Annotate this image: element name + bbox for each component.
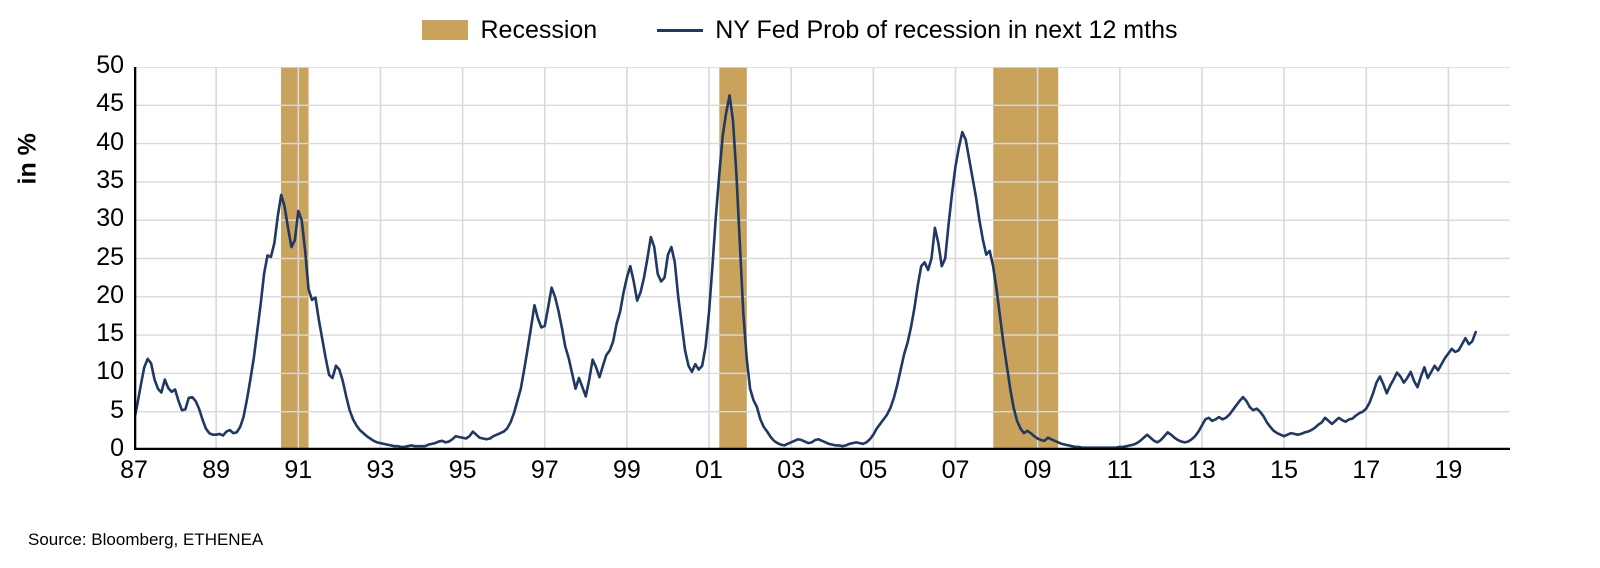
y-axis-tick-label: 35 — [74, 168, 124, 193]
series-line-group — [134, 95, 1476, 447]
x-axis-tick-label: 99 — [597, 458, 657, 483]
series-line-ny-fed-probability — [134, 95, 1476, 447]
x-axis-tick-label: 89 — [186, 458, 246, 483]
source-note: Source: Bloomberg, ETHENEA — [28, 530, 263, 550]
y-axis-tick-label: 30 — [74, 206, 124, 231]
chart-legend: Recession NY Fed Prob of recession in ne… — [0, 8, 1600, 52]
x-axis-tick-label: 19 — [1418, 458, 1478, 483]
legend-item-recession: Recession — [422, 18, 597, 43]
x-axis-tick-labels: 8789919395979901030507091113151719 — [0, 458, 1600, 498]
x-axis-tick-label: 91 — [268, 458, 328, 483]
x-axis-tick-label: 03 — [761, 458, 821, 483]
x-axis-tick-label: 97 — [515, 458, 575, 483]
legend-label-ny-fed-probability: NY Fed Prob of recession in next 12 mths — [715, 18, 1177, 43]
y-axis-title: in % — [14, 145, 43, 185]
grid-lines — [134, 67, 1510, 450]
recession-probability-line-chart — [134, 67, 1510, 450]
y-axis-tick-label: 10 — [74, 359, 124, 384]
recession-color-swatch-icon — [422, 20, 468, 40]
x-axis-tick-label: 13 — [1172, 458, 1232, 483]
y-axis-tick-label: 15 — [74, 321, 124, 346]
x-axis-tick-label: 01 — [679, 458, 739, 483]
x-axis-tick-label: 17 — [1336, 458, 1396, 483]
y-axis-tick-label: 25 — [74, 245, 124, 270]
y-axis-tick-label: 45 — [74, 91, 124, 116]
y-axis-tick-label: 40 — [74, 130, 124, 155]
legend-item-ny-fed-probability: NY Fed Prob of recession in next 12 mths — [657, 18, 1177, 43]
y-axis-tick-label: 5 — [74, 398, 124, 423]
x-axis-tick-label: 87 — [104, 458, 164, 483]
x-axis-tick-label: 11 — [1090, 458, 1150, 483]
chart-plot-area — [134, 67, 1510, 450]
x-axis-tick-label: 05 — [843, 458, 903, 483]
x-axis-tick-label: 09 — [1008, 458, 1068, 483]
x-axis-tick-label: 07 — [925, 458, 985, 483]
legend-label-recession: Recession — [480, 18, 597, 43]
x-axis-tick-label: 93 — [350, 458, 410, 483]
x-axis-tick-label: 95 — [433, 458, 493, 483]
x-axis-tick-label: 15 — [1254, 458, 1314, 483]
y-axis-tick-label: 50 — [74, 53, 124, 78]
line-color-swatch-icon — [657, 29, 703, 32]
y-axis-tick-label: 20 — [74, 283, 124, 308]
